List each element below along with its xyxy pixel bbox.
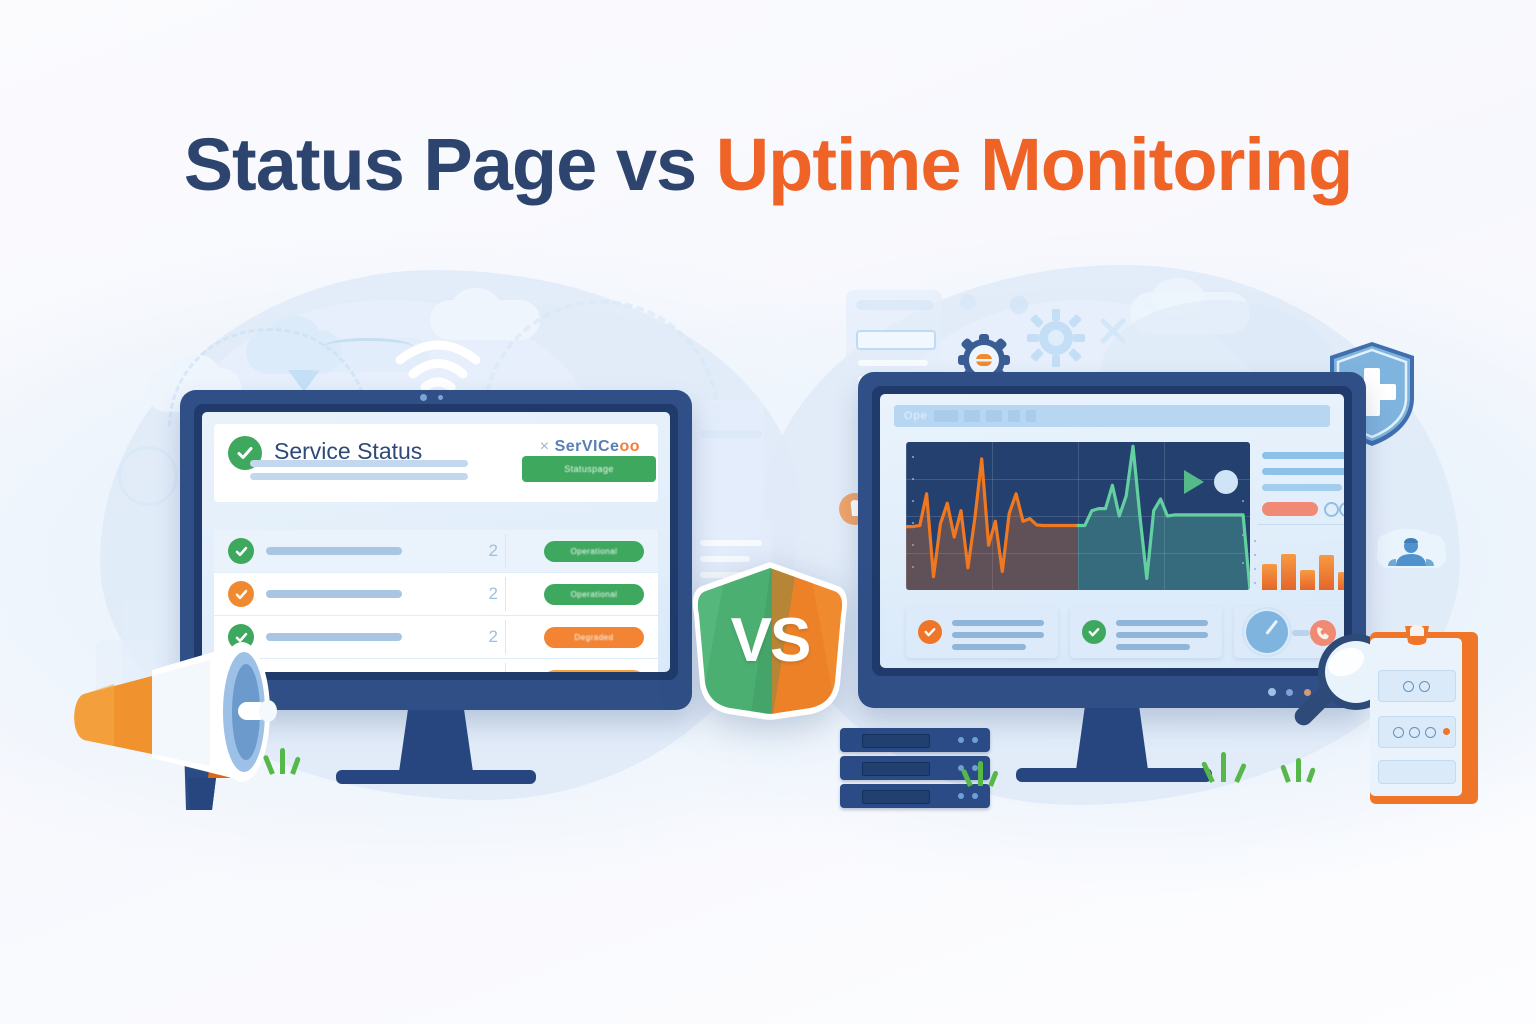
server-unit bbox=[840, 784, 990, 808]
status-badge-label: Operational bbox=[571, 547, 618, 556]
row-divider bbox=[505, 663, 506, 672]
header-bar-2 bbox=[250, 473, 468, 480]
server-slot bbox=[862, 790, 930, 804]
server-led bbox=[958, 737, 964, 743]
decor-line-right-2 bbox=[858, 360, 928, 366]
row-number: 2 bbox=[489, 627, 498, 647]
row-number: 2 bbox=[489, 584, 498, 604]
row-divider bbox=[505, 620, 506, 654]
side-panel-ring-1 bbox=[1324, 502, 1339, 517]
vs-badge-label: VS bbox=[688, 605, 852, 676]
monitor-stand-base-left bbox=[336, 770, 536, 784]
topbar-seg-1 bbox=[934, 410, 958, 422]
side-panel-line-2 bbox=[1262, 468, 1344, 475]
side-panel-ring-2 bbox=[1339, 502, 1344, 517]
panel-dot bbox=[1419, 681, 1430, 692]
row-label-bar bbox=[266, 547, 402, 555]
topbar-seg-2 bbox=[964, 410, 980, 422]
webcam-led-left bbox=[438, 395, 443, 400]
server-slot bbox=[862, 734, 930, 748]
decor-line-mid bbox=[700, 430, 762, 438]
server-led bbox=[972, 737, 978, 743]
card-line bbox=[1116, 620, 1208, 626]
gauge-ring bbox=[1242, 607, 1292, 657]
status-badge: Operational bbox=[544, 584, 644, 605]
gear-icon bbox=[1026, 308, 1086, 368]
clipboard-panel-2 bbox=[1378, 716, 1456, 748]
axis-tick bbox=[1254, 540, 1256, 542]
decor-dot-right-2 bbox=[1010, 296, 1028, 314]
panel-dot bbox=[1409, 727, 1420, 738]
monitor-stand-neck-right bbox=[1076, 708, 1148, 770]
table-row[interactable]: 2 Operational bbox=[214, 573, 658, 615]
clipboard-clip-icon bbox=[1402, 624, 1432, 648]
grass-decor-3 bbox=[1208, 752, 1254, 782]
axis-tick bbox=[1254, 554, 1256, 556]
brand-name: SerVICe bbox=[555, 438, 620, 455]
page-title-dark: Status Page vs bbox=[184, 123, 716, 206]
server-led bbox=[972, 793, 978, 799]
chart-series-svg bbox=[906, 442, 1250, 590]
axis-tick bbox=[1254, 568, 1256, 570]
bar-chart-bar bbox=[1281, 554, 1296, 590]
status-button-label: Statuspage bbox=[564, 464, 614, 474]
clipboard-panel-3 bbox=[1378, 760, 1456, 784]
side-panel-divider bbox=[1258, 524, 1344, 525]
check-circle-icon bbox=[918, 620, 942, 644]
panel-dot bbox=[1425, 727, 1436, 738]
vs-badge: VS bbox=[688, 558, 852, 722]
status-badge-label: Operational bbox=[571, 590, 618, 599]
row-number: 2 bbox=[489, 541, 498, 561]
server-slot bbox=[862, 762, 930, 776]
status-page-brand: ×SerVICeoo bbox=[540, 438, 640, 456]
table-row[interactable]: 2 Operational bbox=[214, 530, 658, 572]
page-title-orange: Uptime Monitoring bbox=[716, 123, 1353, 206]
server-led bbox=[958, 793, 964, 799]
megaphone-icon bbox=[60, 628, 328, 812]
clipboard-icon bbox=[1370, 632, 1478, 804]
page-title: Status Page vs Uptime Monitoring bbox=[0, 122, 1536, 207]
check-circle-icon bbox=[228, 581, 254, 607]
status-badge: Degraded bbox=[544, 627, 644, 648]
axis-tick bbox=[1254, 582, 1256, 584]
user-badge-icon bbox=[1374, 528, 1448, 590]
card-line bbox=[952, 632, 1044, 638]
server-unit bbox=[840, 728, 990, 752]
bar-chart-bar bbox=[1300, 570, 1315, 590]
brand-prefix: × bbox=[540, 438, 550, 455]
metric-card[interactable] bbox=[1070, 606, 1222, 658]
row-number: 3 bbox=[489, 670, 498, 672]
topbar-seg-4 bbox=[1008, 410, 1020, 422]
play-triangle-icon[interactable] bbox=[1184, 470, 1204, 494]
illustration-canvas: Status Page vs Uptime Monitoring bbox=[0, 0, 1536, 1024]
card-line bbox=[1116, 644, 1190, 650]
bar-chart-bar bbox=[1262, 564, 1277, 590]
clipboard-panel-1 bbox=[1378, 670, 1456, 702]
panel-dot bbox=[1393, 727, 1404, 738]
decor-input-right bbox=[856, 330, 936, 350]
grass-decor-2 bbox=[966, 760, 1006, 786]
row-divider bbox=[505, 577, 506, 611]
check-circle-icon bbox=[228, 538, 254, 564]
status-dot-indicator bbox=[1214, 470, 1238, 494]
uptime-dashboard-screen: Ope bbox=[880, 394, 1344, 668]
webcam-icon-left bbox=[420, 394, 427, 401]
brand-suffix: oo bbox=[619, 438, 640, 455]
monitor-stand-neck-left bbox=[399, 710, 473, 772]
card-line bbox=[952, 644, 1026, 650]
decor-line-mid-2 bbox=[700, 540, 762, 546]
decor-dot-right bbox=[960, 294, 976, 310]
side-panel-line-1 bbox=[1262, 452, 1344, 459]
decor-ring-left bbox=[118, 446, 178, 506]
cloud-icon-3b bbox=[452, 288, 500, 324]
check-circle-icon bbox=[1082, 620, 1106, 644]
panel-dot bbox=[1403, 681, 1414, 692]
metric-card[interactable] bbox=[906, 606, 1058, 658]
bar-chart-bar bbox=[1319, 555, 1334, 590]
side-panel-line-3 bbox=[1262, 484, 1342, 491]
topbar-seg-5 bbox=[1026, 410, 1036, 422]
status-badge bbox=[544, 670, 644, 673]
topbar-text: Ope bbox=[904, 410, 928, 422]
side-panel-alert-bar bbox=[1262, 502, 1318, 516]
status-badge: Operational bbox=[544, 541, 644, 562]
row-label-bar bbox=[266, 590, 402, 598]
panel-status-dot bbox=[1443, 728, 1450, 735]
monitor-led-right-1 bbox=[1268, 688, 1276, 696]
row-divider bbox=[505, 534, 506, 568]
monitor-stand-base-right bbox=[1016, 768, 1212, 782]
status-page-status-button[interactable]: Statuspage bbox=[522, 456, 656, 482]
status-page-header-bars bbox=[250, 460, 468, 486]
status-badge-label: Degraded bbox=[574, 633, 613, 642]
grass-decor-4 bbox=[1284, 756, 1324, 782]
decor-line-right-1 bbox=[856, 300, 934, 310]
header-bar-1 bbox=[250, 460, 468, 467]
bar-chart-bar bbox=[1338, 572, 1344, 590]
dashboard-topbar[interactable]: Ope bbox=[894, 405, 1330, 427]
card-line bbox=[952, 620, 1044, 626]
response-time-chart bbox=[906, 442, 1250, 590]
card-line bbox=[1116, 632, 1208, 638]
topbar-seg-3 bbox=[986, 410, 1002, 422]
